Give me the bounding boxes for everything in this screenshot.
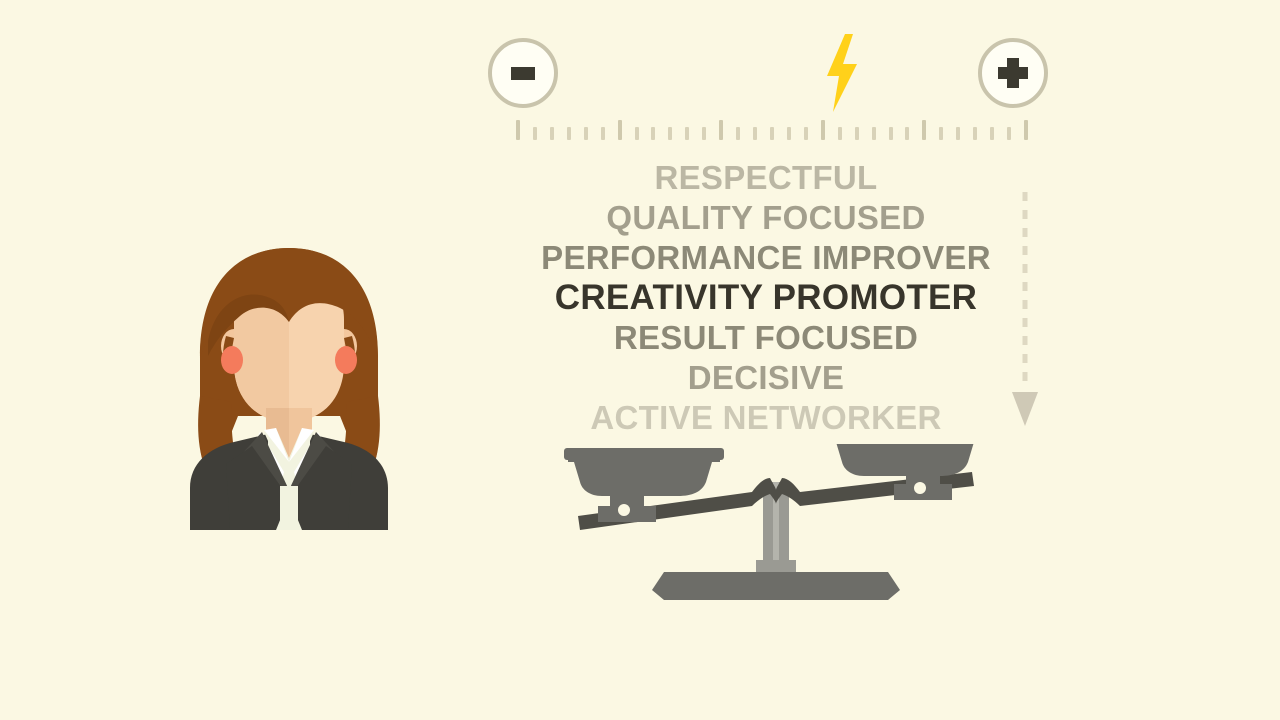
list-item[interactable]: RESULT FOCUSED: [520, 318, 1012, 358]
ruler-tick-minor: [736, 127, 740, 140]
ruler-tick-minor: [550, 127, 554, 140]
ruler-tick-minor: [855, 127, 859, 140]
ruler-tick-minor: [889, 127, 893, 140]
ruler-tick-major: [516, 120, 520, 140]
ruler-tick-major: [1024, 120, 1028, 140]
ruler-tick-major: [719, 120, 723, 140]
ruler-tick-minor: [753, 127, 757, 140]
ruler-tick-minor: [685, 127, 689, 140]
ruler-tick-minor: [872, 127, 876, 140]
intensity-meter: [488, 38, 1048, 112]
list-item[interactable]: DECISIVE: [520, 358, 1012, 398]
avatar: [190, 246, 388, 530]
ruler-tick-minor: [651, 127, 655, 140]
trait-list: RESPECTFUL QUALITY FOCUSED PERFORMANCE I…: [520, 158, 1012, 438]
ruler-tick-minor: [990, 127, 994, 140]
meter-ruler[interactable]: [516, 118, 1028, 140]
businesswoman-avatar-graphic: [190, 246, 388, 530]
ruler-tick-minor: [567, 127, 571, 140]
earring-right: [335, 346, 357, 374]
minus-icon: [511, 67, 535, 80]
ruler-tick-minor: [584, 127, 588, 140]
ruler-tick-minor: [973, 127, 977, 140]
increase-button[interactable]: [978, 38, 1048, 108]
decrease-button[interactable]: [488, 38, 558, 108]
ruler-tick-minor: [770, 127, 774, 140]
ruler-tick-minor: [702, 127, 706, 140]
ruler-tick-minor: [905, 127, 909, 140]
plus-icon: [998, 58, 1028, 88]
ruler-tick-minor: [956, 127, 960, 140]
ruler-tick-minor: [804, 127, 808, 140]
dashed-down-arrow-icon: [1010, 192, 1040, 432]
ruler-tick-minor: [838, 127, 842, 140]
ruler-tick-minor: [601, 127, 605, 140]
ruler-tick-major: [922, 120, 926, 140]
list-item[interactable]: QUALITY FOCUSED: [520, 198, 1012, 238]
ruler-tick-minor: [787, 127, 791, 140]
earring-left: [221, 346, 243, 374]
ruler-tick-major: [618, 120, 622, 140]
lightning-bolt-icon: [819, 34, 863, 112]
ruler-tick-minor: [635, 127, 639, 140]
ruler-tick-major: [821, 120, 825, 140]
list-item[interactable]: PERFORMANCE IMPROVER: [520, 238, 1012, 278]
list-item[interactable]: RESPECTFUL: [520, 158, 1012, 198]
ruler-tick-minor: [668, 127, 672, 140]
slide-canvas: RESPECTFUL QUALITY FOCUSED PERFORMANCE I…: [0, 0, 1280, 720]
list-item[interactable]: ACTIVE NETWORKER: [520, 398, 1012, 438]
list-item-selected[interactable]: CREATIVITY PROMOTER: [520, 278, 1012, 318]
ruler-tick-minor: [939, 127, 943, 140]
balance-scale-icon: [560, 444, 992, 602]
ruler-tick-minor: [533, 127, 537, 140]
ruler-tick-minor: [1007, 127, 1011, 140]
